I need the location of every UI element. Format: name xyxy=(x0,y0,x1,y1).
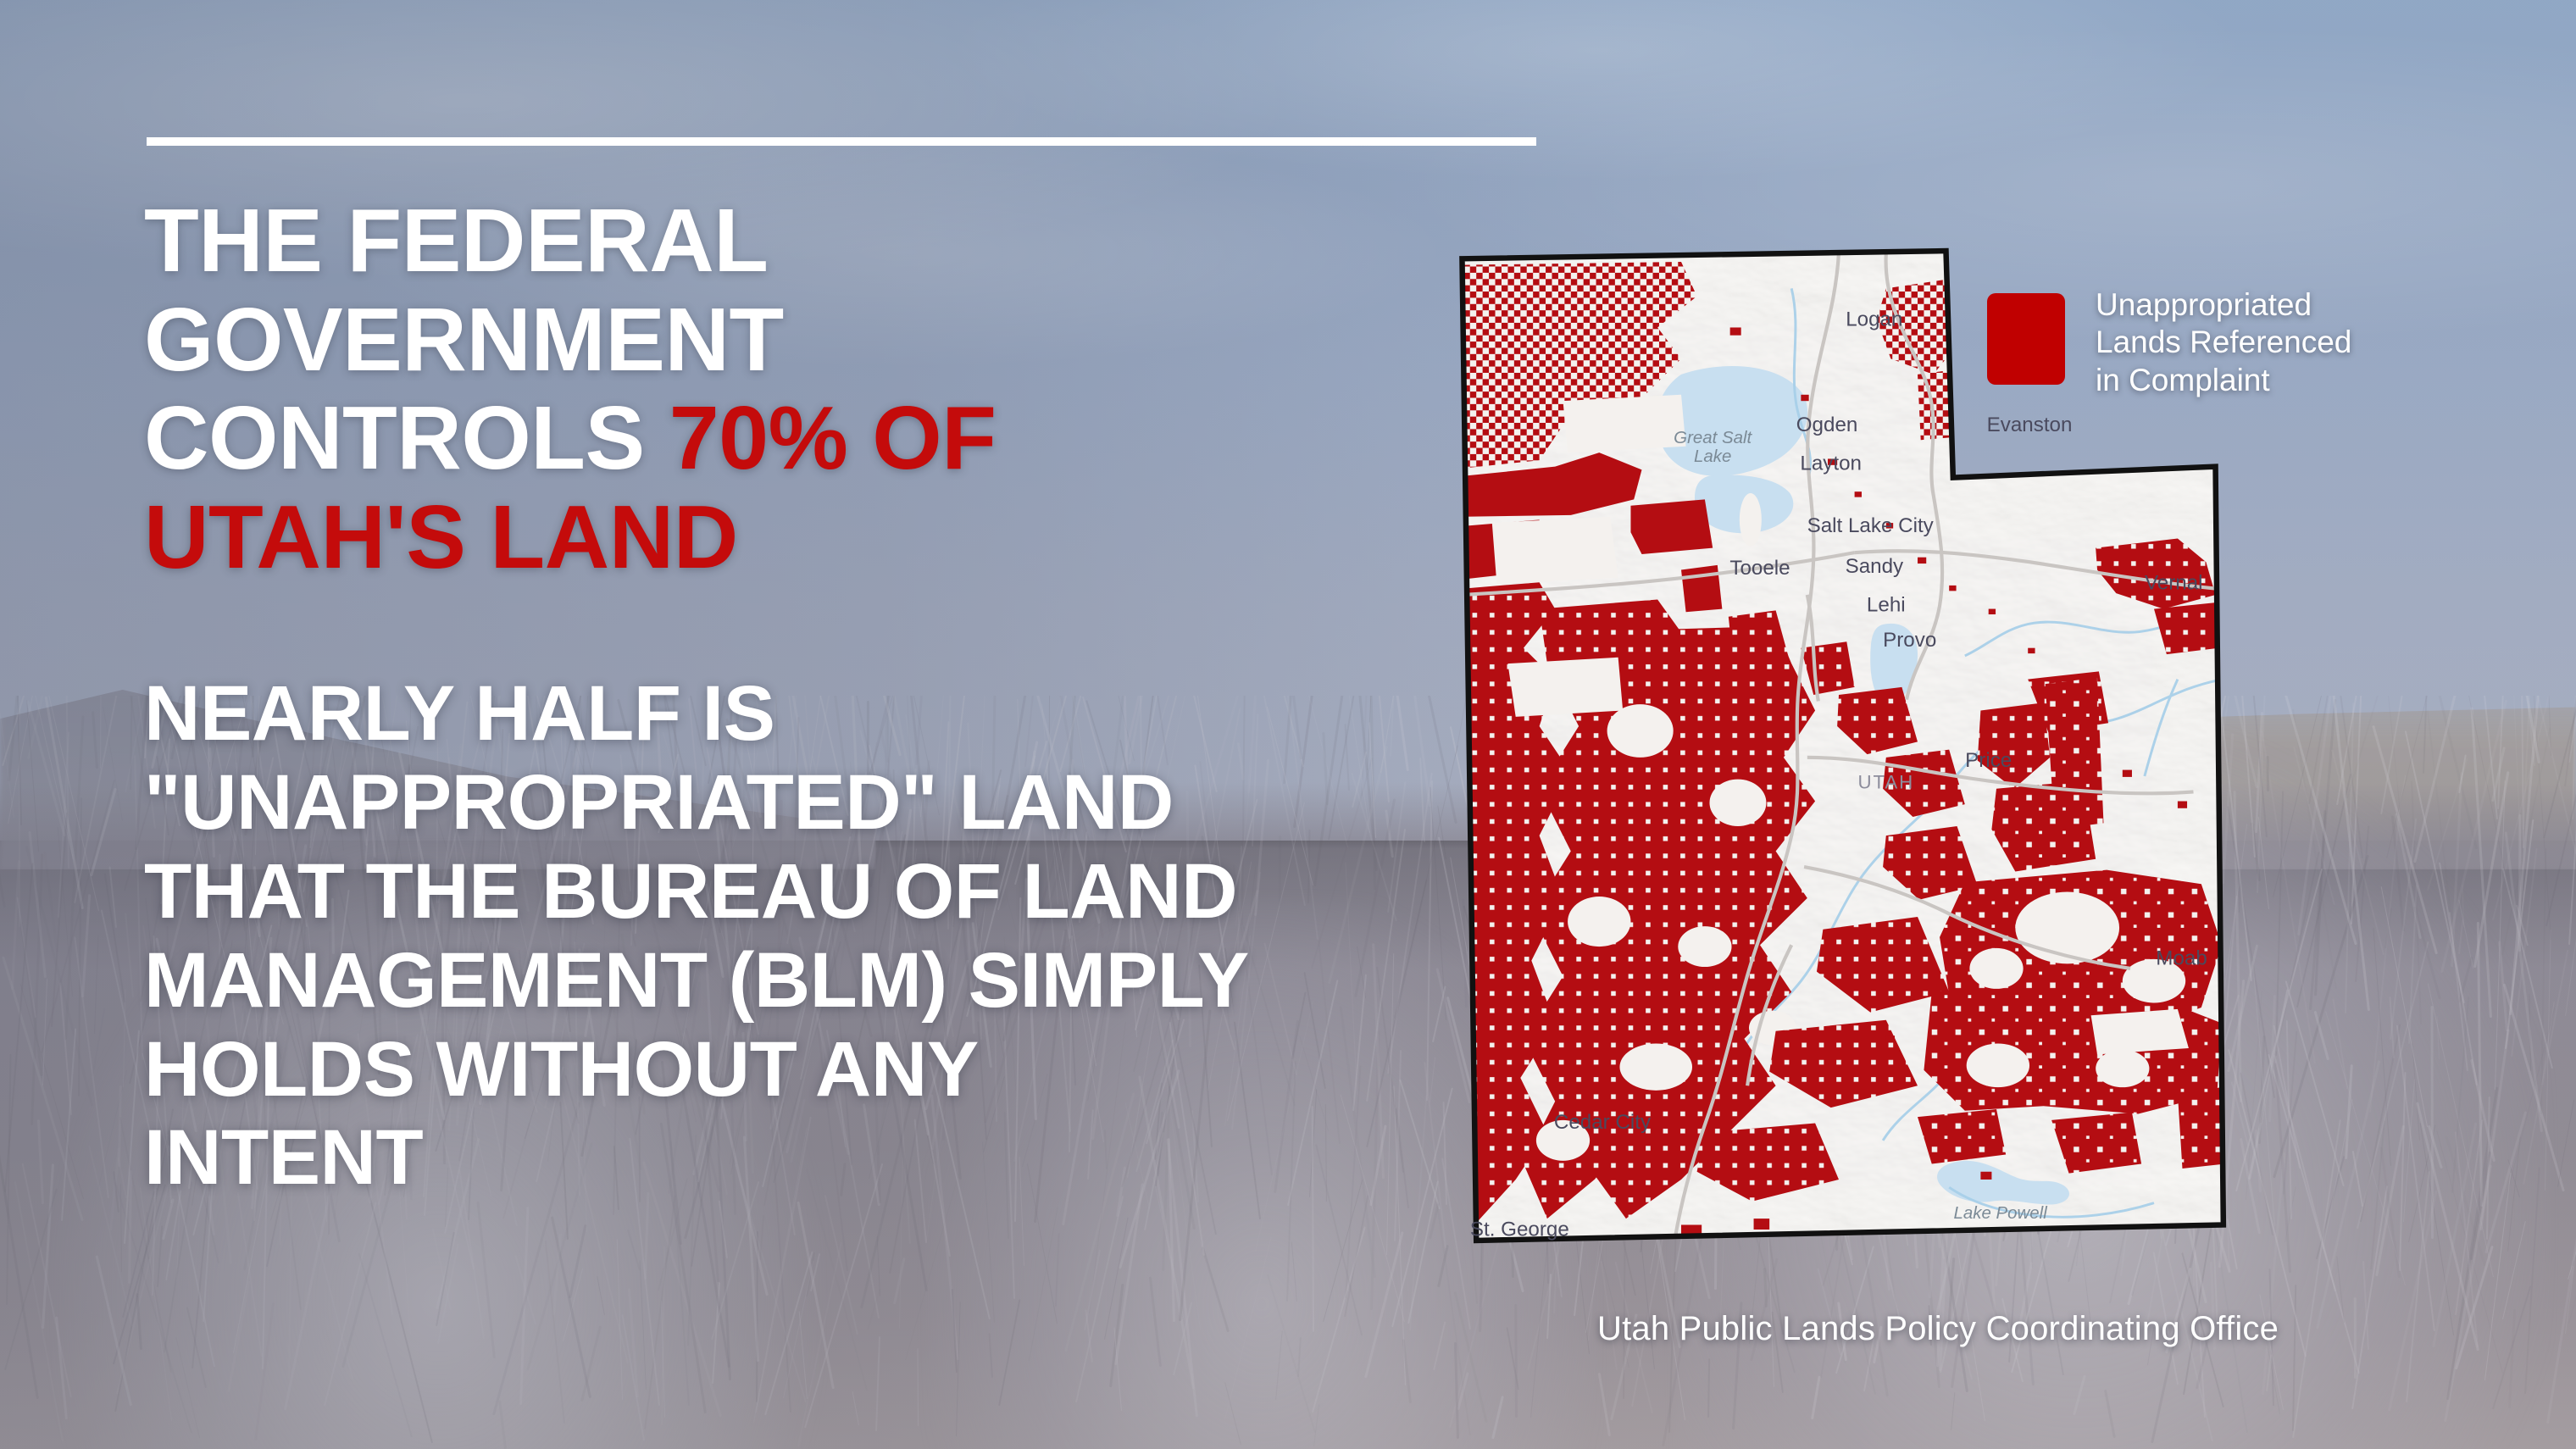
infographic-canvas: The federal government controls 70% of U… xyxy=(0,0,2576,1449)
map-label-moab: Moab xyxy=(2156,947,2207,969)
map-label-vernal: Vernal xyxy=(2145,572,2203,595)
map-label-provo: Provo xyxy=(1883,629,1936,652)
map-label-lake-powell: Lake Powell xyxy=(1954,1204,2048,1223)
map-label-ogden: Ogden xyxy=(1796,414,1858,436)
legend-label-line2: Lands Referenced xyxy=(2096,324,2434,361)
map-label-salt-lake-city: Salt Lake City xyxy=(1807,514,1934,537)
map-label-cedar-city: Cedar City xyxy=(1554,1111,1651,1134)
source-caption: Utah Public Lands Policy Coordinating Of… xyxy=(1597,1310,2495,1348)
headline: The federal government controls 70% of U… xyxy=(144,192,1229,586)
legend-label: Unappropriated Lands Referenced in Compl… xyxy=(2096,286,2434,399)
map-label-layton: Layton xyxy=(1800,452,1862,475)
map-label-sandy: Sandy xyxy=(1846,555,1904,578)
map-label-st-george: St. George xyxy=(1470,1218,1569,1241)
map-label-evanston: Evanston xyxy=(1987,414,2073,436)
legend-color-swatch xyxy=(1987,293,2065,385)
map-label-lehi: Lehi xyxy=(1867,593,1906,616)
top-divider-rule xyxy=(147,137,1536,146)
map-label-utah: UTAH xyxy=(1858,772,1915,793)
map-label-tooele: Tooele xyxy=(1729,557,1790,580)
legend-label-line1: Unappropriated xyxy=(2096,286,2434,324)
map-label-logan: Logan xyxy=(1846,308,1902,331)
map-legend: Unappropriated Lands Referenced in Compl… xyxy=(1987,290,2428,400)
legend-label-line3: in Complaint xyxy=(2096,362,2434,399)
map-label-price: Price xyxy=(1965,749,2012,772)
subheadline: Nearly half is "unappropriated" land tha… xyxy=(144,669,1263,1202)
